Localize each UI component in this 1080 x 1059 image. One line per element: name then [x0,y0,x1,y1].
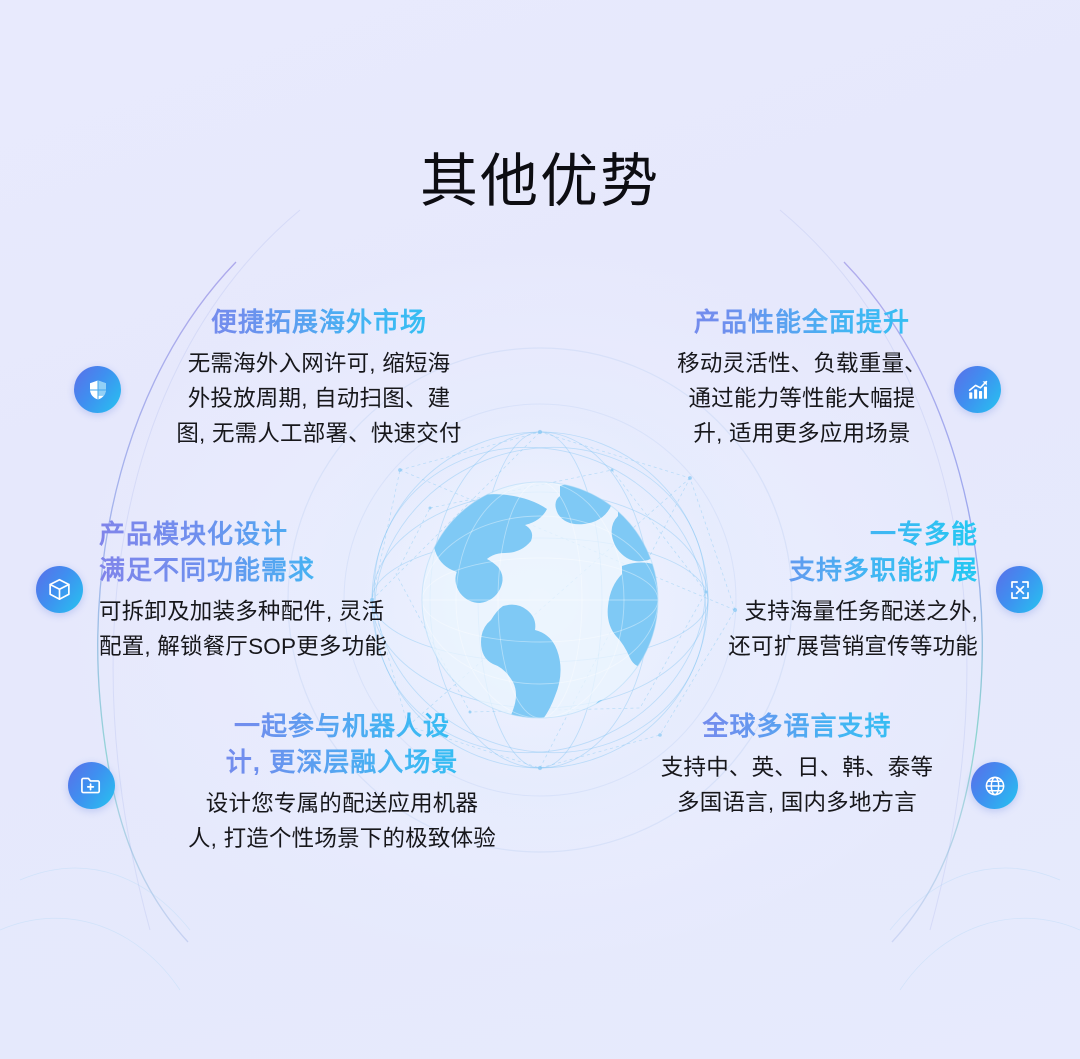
advantage-card-modular: 产品模块化设计 满足不同功能需求 可拆卸及加装多种配件, 灵活 配置, 解锁餐厅… [99,516,455,664]
advantage-card-multifunction: 一专多能 支持多职能扩展 支持海量任务配送之外, 还可扩展营销宣传等功能 [672,516,978,664]
expand-arrows-icon-badge[interactable] [996,566,1043,613]
card-headline: 产品模块化设计 满足不同功能需求 [99,516,455,588]
chart-growth-icon-badge[interactable] [954,366,1001,413]
advantage-card-codesign: 一起参与机器人设 计, 更深层融入场景 设计您专属的配送应用机器 人, 打造个性… [143,708,541,856]
card-body: 移动灵活性、负载重量、 通过能力等性能大幅提 升, 适用更多应用场景 [628,346,976,451]
card-headline: 产品性能全面提升 [628,304,976,340]
advantage-card-overseas: 便捷拓展海外市场 无需海外入网许可, 缩短海 外投放周期, 自动扫图、建 图, … [143,304,495,451]
card-body: 无需海外入网许可, 缩短海 外投放周期, 自动扫图、建 图, 无需人工部署、快速… [143,346,495,451]
folder-plus-icon [79,773,104,798]
card-body: 可拆卸及加装多种配件, 灵活 配置, 解锁餐厅SOP更多功能 [99,594,455,664]
card-headline: 便捷拓展海外市场 [143,304,495,340]
advantage-card-performance: 产品性能全面提升 移动灵活性、负载重量、 通过能力等性能大幅提 升, 适用更多应… [628,304,976,451]
card-headline: 一起参与机器人设 计, 更深层融入场景 [143,708,541,780]
card-body: 支持海量任务配送之外, 还可扩展营销宣传等功能 [672,594,978,664]
card-body: 设计您专属的配送应用机器 人, 打造个性场景下的极致体验 [143,786,541,856]
folder-plus-icon-badge[interactable] [68,762,115,809]
card-headline: 全球多语言支持 [632,708,962,744]
cube-icon-badge[interactable] [36,566,83,613]
card-headline: 一专多能 支持多职能扩展 [672,516,978,588]
card-body: 支持中、英、日、韩、泰等 多国语言, 国内多地方言 [632,750,962,820]
chart-growth-icon [966,378,990,402]
page-title: 其他优势 [0,147,1080,217]
globe-icon-badge[interactable] [971,762,1018,809]
advantages-infographic: 其他优势 便捷拓展海外市场 无需海外入网许可, 缩短海 外投放周期, 自动扫图、… [0,0,1080,1059]
cube-icon [47,577,72,602]
shield-icon [86,378,110,402]
advantage-card-language: 全球多语言支持 支持中、英、日、韩、泰等 多国语言, 国内多地方言 [632,708,962,820]
globe-icon [983,774,1007,798]
shield-icon-badge[interactable] [74,366,121,413]
expand-arrows-icon [1008,578,1032,602]
